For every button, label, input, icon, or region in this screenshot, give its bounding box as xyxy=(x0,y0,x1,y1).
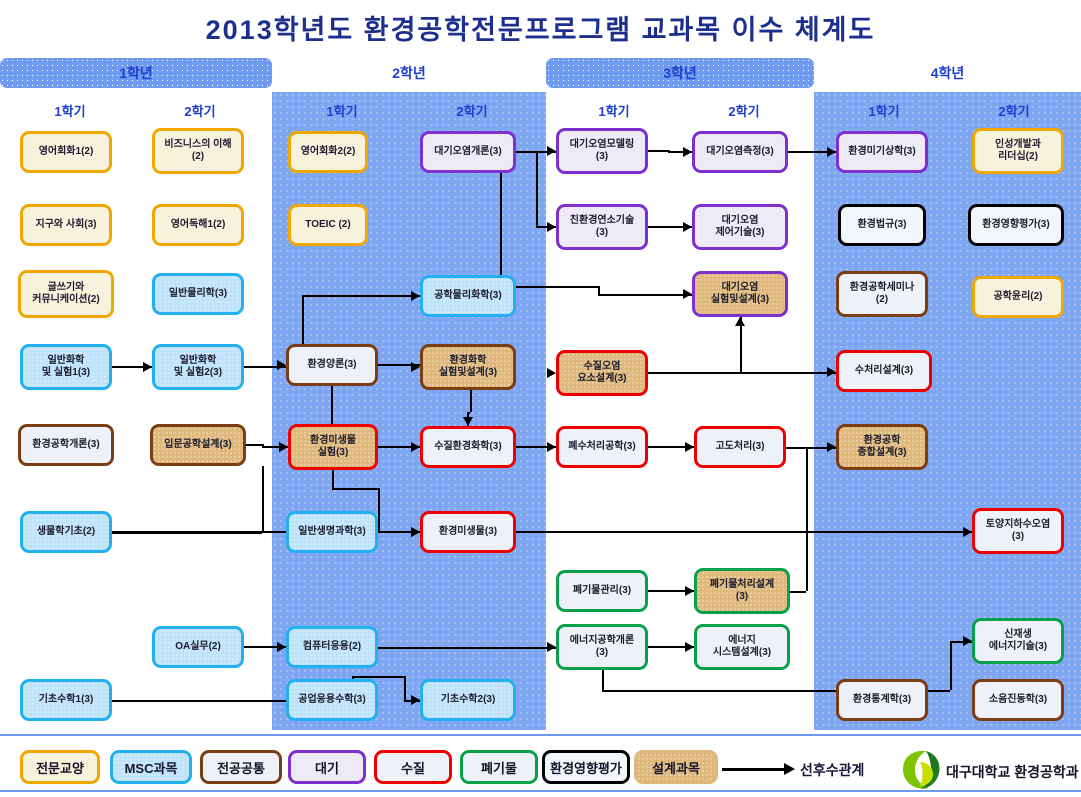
daegu-university-leaf-logo xyxy=(896,748,942,792)
course-node[interactable]: 인성개발과 리더십(2) xyxy=(972,128,1064,174)
course-node[interactable]: 일반화학 및 실험1(3) xyxy=(20,344,112,390)
legend-item: MSC과목 xyxy=(110,750,192,784)
course-node[interactable]: 입문공학설계(3) xyxy=(150,424,246,466)
course-node[interactable]: 환경공학 종합설계(3) xyxy=(836,424,928,470)
connector-arrowhead xyxy=(683,222,692,232)
course-node[interactable]: 대기오염 실험및설계(3) xyxy=(692,271,788,317)
connector-arrowhead xyxy=(827,147,836,157)
course-node[interactable]: 영어회화2(2) xyxy=(288,131,368,173)
course-node[interactable]: 폐기물처리설계 (3) xyxy=(694,568,790,614)
year-band-2-label: 2학년 xyxy=(392,63,426,83)
course-node[interactable]: 대기오염모델링 (3) xyxy=(556,128,648,174)
connector-arrowhead xyxy=(685,586,694,596)
legend-relation-label: 선후수관계 xyxy=(800,760,864,780)
semester-text: 1학기 xyxy=(868,101,899,120)
connector-arrowhead xyxy=(963,527,972,537)
connector-segment xyxy=(404,676,406,700)
course-node[interactable]: 일반물리학(3) xyxy=(152,273,244,315)
connector-arrowhead xyxy=(547,222,556,232)
course-node[interactable]: 폐기물관리(3) xyxy=(556,570,648,612)
semester-label-1-1: 1학기 xyxy=(10,100,130,120)
course-node[interactable]: 비즈니스의 이해 (2) xyxy=(152,128,244,174)
semester-label-3-2: 2학기 xyxy=(684,100,804,120)
legend-item: 대기 xyxy=(288,750,366,784)
course-node[interactable]: 생물학기초(2) xyxy=(20,511,112,553)
legend-divider-top xyxy=(0,734,1081,736)
legend-arrow-head xyxy=(784,763,795,775)
course-node[interactable]: 지구와 사회(3) xyxy=(20,204,112,246)
page-title: 2013학년도 환경공학전문프로그램 교과목 이수 체계도 xyxy=(0,8,1081,47)
connector-segment xyxy=(536,151,538,226)
semester-text: 2학기 xyxy=(998,101,1029,120)
connector-arrowhead xyxy=(411,291,420,301)
course-node[interactable]: 환경미생물 실험(3) xyxy=(288,424,378,470)
connector-arrowhead xyxy=(143,362,152,372)
year-band-4: 4학년 xyxy=(814,58,1081,88)
course-node[interactable]: 공학윤리(2) xyxy=(972,276,1064,318)
connector-arrowhead xyxy=(735,317,745,326)
connector-arrowhead xyxy=(411,442,420,452)
course-node[interactable]: 글쓰기와 커뮤니케이션(2) xyxy=(18,270,114,318)
connector-segment xyxy=(806,447,808,591)
semester-label-4-1: 1학기 xyxy=(824,100,944,120)
course-node[interactable]: 기초수학2(3) xyxy=(420,679,516,721)
course-node[interactable]: 수처리설계(3) xyxy=(836,350,932,392)
course-node[interactable]: 공업응용수학(3) xyxy=(286,679,378,721)
connector-segment xyxy=(246,444,262,446)
legend-item: 설계과목 xyxy=(634,750,718,784)
course-node[interactable]: 에너지 시스템설계(3) xyxy=(694,624,790,670)
connector-arrowhead xyxy=(827,442,836,452)
connector-arrowhead xyxy=(547,368,556,378)
connector-segment xyxy=(602,670,604,690)
year-band-3: 3학년 xyxy=(546,58,814,88)
semester-label-1-2: 2학기 xyxy=(140,100,260,120)
connector-segment xyxy=(352,676,404,678)
connector-segment xyxy=(378,647,556,649)
year-band-2: 2학년 xyxy=(272,58,546,88)
curriculum-flowchart: 2013학년도 환경공학전문프로그램 교과목 이수 체계도 1학년 2학년 3학… xyxy=(0,0,1081,794)
connector-segment xyxy=(500,173,502,286)
year-band-1: 1학년 xyxy=(0,58,272,88)
legend-arrow-line xyxy=(722,768,784,771)
course-node[interactable]: 토양지하수오염 (3) xyxy=(972,508,1064,554)
legend-item: 수질 xyxy=(374,750,452,784)
course-node[interactable]: 친환경연소기술 (3) xyxy=(556,204,648,250)
connector-arrowhead xyxy=(547,442,556,452)
course-node[interactable]: 소음진동학(3) xyxy=(972,679,1064,721)
connector-segment xyxy=(378,488,380,531)
course-node[interactable]: 수질환경화학(3) xyxy=(420,426,516,468)
connector-segment xyxy=(786,447,812,449)
course-node[interactable]: 환경공학세미나 (2) xyxy=(836,271,928,317)
connector-arrowhead xyxy=(277,360,286,370)
semester-text: 2학기 xyxy=(456,101,487,120)
connector-segment xyxy=(331,386,333,428)
connector-segment xyxy=(332,470,334,488)
year-band-4-label: 4학년 xyxy=(931,63,965,83)
connector-segment xyxy=(244,646,262,648)
connector-arrowhead xyxy=(963,636,972,646)
course-node[interactable]: 환경법규(3) xyxy=(838,204,926,246)
course-node[interactable]: OA실무(2) xyxy=(152,626,244,668)
connector-arrowhead xyxy=(547,146,556,156)
course-node[interactable]: 대기오염측정(3) xyxy=(692,131,788,173)
connector-arrowhead xyxy=(683,289,692,299)
course-node[interactable]: 기초수학1(3) xyxy=(20,679,112,721)
year-band-1-label: 1학년 xyxy=(119,63,153,83)
connector-arrowhead xyxy=(685,642,694,652)
connector-arrowhead xyxy=(463,417,473,426)
course-node[interactable]: 영어독해1(2) xyxy=(152,204,244,246)
connector-arrowhead xyxy=(683,147,692,157)
department-name: 대구대학교 환경공학과 xyxy=(946,762,1079,782)
course-node[interactable]: 일반화학 및 실험2(3) xyxy=(152,344,244,390)
course-node[interactable]: 신재생 에너지기술(3) xyxy=(972,618,1064,664)
connector-segment xyxy=(648,150,668,152)
course-node[interactable]: 환경영향평가(3) xyxy=(968,204,1064,246)
connector-segment xyxy=(598,294,692,296)
connector-segment xyxy=(950,641,952,690)
course-node[interactable]: 환경공학개론(3) xyxy=(18,424,114,466)
legend-item: 폐기물 xyxy=(460,750,538,784)
course-node[interactable]: 컴퓨터응용(2) xyxy=(286,626,378,668)
legend-item: 환경영향평가 xyxy=(542,750,630,784)
course-node[interactable]: 폐수처리공학(3) xyxy=(556,426,648,468)
course-node[interactable]: 환경미기상학(3) xyxy=(836,131,928,173)
semester-label-3-1: 1학기 xyxy=(554,100,674,120)
semester-label-2-1: 1학기 xyxy=(282,100,402,120)
connector-arrowhead xyxy=(411,362,420,372)
course-node[interactable]: 영어회화1(2) xyxy=(20,131,112,173)
connector-segment xyxy=(516,531,556,533)
course-node[interactable]: 공학물리화학(3) xyxy=(420,275,516,317)
semester-text: 1학기 xyxy=(598,101,629,120)
semester-text: 2학기 xyxy=(728,101,759,120)
course-node[interactable]: 일반생명과학(3) xyxy=(286,511,378,553)
connector-segment xyxy=(262,466,264,532)
connector-arrowhead xyxy=(411,695,420,705)
legend-item: 전공공통 xyxy=(200,750,282,784)
connector-segment xyxy=(302,295,420,297)
connector-segment xyxy=(598,286,600,294)
connector-arrowhead xyxy=(279,442,288,452)
connector-segment xyxy=(790,591,806,593)
semester-label-4-2: 2학기 xyxy=(954,100,1074,120)
semester-text: 1학기 xyxy=(326,101,357,120)
year-band-3-label: 3학년 xyxy=(663,63,697,83)
connector-arrowhead xyxy=(547,642,556,652)
course-node[interactable]: TOEIC (2) xyxy=(288,204,368,246)
semester-text: 1학기 xyxy=(54,101,85,120)
semester-label-2-2: 2학기 xyxy=(412,100,532,120)
connector-arrowhead xyxy=(685,442,694,452)
course-node[interactable]: 고도처리(3) xyxy=(694,426,786,468)
connector-arrowhead xyxy=(827,367,836,377)
connector-arrowhead xyxy=(411,527,420,537)
course-node[interactable]: 환경화학 실험및설계(3) xyxy=(420,344,516,390)
course-node[interactable]: 수질오염 요소설계(3) xyxy=(556,350,648,396)
connector-segment xyxy=(332,488,378,490)
course-node[interactable]: 환경미생물(3) xyxy=(420,511,516,553)
connector-arrowhead xyxy=(277,642,286,652)
legend-item: 전문교양 xyxy=(20,750,100,784)
connector-segment xyxy=(516,151,536,153)
connector-segment xyxy=(648,372,836,374)
course-node[interactable]: 환경양론(3) xyxy=(286,344,378,386)
course-node[interactable]: 대기오염 제어기술(3) xyxy=(692,204,788,250)
semester-text: 2학기 xyxy=(184,101,215,120)
course-node[interactable]: 에너지공학개론 (3) xyxy=(556,624,648,670)
course-node[interactable]: 환경통계학(3) xyxy=(836,679,928,721)
course-node[interactable]: 대기오염개론(3) xyxy=(420,131,516,173)
